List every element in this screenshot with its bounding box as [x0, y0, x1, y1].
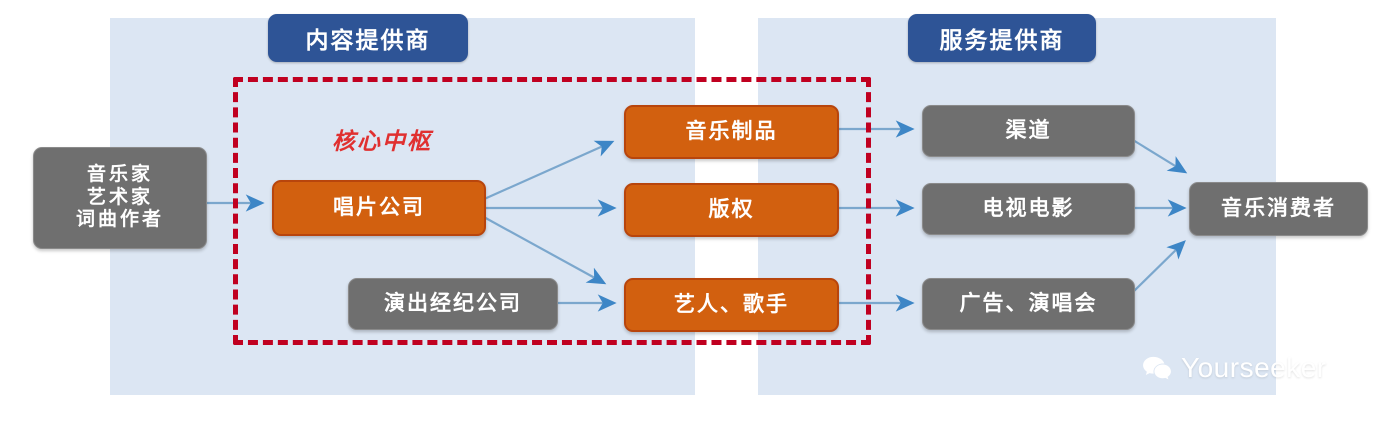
watermark-text: Yourseeker — [1181, 352, 1327, 384]
node-copyright[interactable]: 版权 — [624, 183, 839, 237]
node-creators[interactable]: 音乐家 艺术家 词曲作者 — [33, 147, 207, 249]
watermark: Yourseeker — [1142, 352, 1327, 384]
node-record-company[interactable]: 唱片公司 — [272, 180, 486, 236]
header-content-provider: 内容提供商 — [268, 14, 468, 62]
core-hub-label: 核心中枢 — [332, 122, 432, 156]
node-channel[interactable]: 渠道 — [922, 105, 1135, 157]
node-tv-film[interactable]: 电视电影 — [922, 183, 1135, 235]
node-artists-singers[interactable]: 艺人、歌手 — [624, 278, 839, 332]
node-music-consumers[interactable]: 音乐消费者 — [1189, 182, 1368, 236]
creators-line-1: 音乐家 — [87, 164, 153, 186]
creators-line-3: 词曲作者 — [76, 209, 164, 231]
node-music-products[interactable]: 音乐制品 — [624, 105, 839, 159]
diagram-canvas: 内容提供商 服务提供商 核心中枢 音乐家 艺术家 词曲作者 唱片公司 演出经纪公… — [0, 0, 1397, 427]
node-talent-agency[interactable]: 演出经纪公司 — [348, 278, 558, 330]
edge-channel-to-consumers — [1133, 140, 1185, 172]
wechat-icon — [1142, 355, 1172, 381]
header-service-provider: 服务提供商 — [908, 14, 1096, 62]
edge-ads-to-consumers — [1133, 242, 1184, 292]
node-ads-concerts[interactable]: 广告、演唱会 — [922, 278, 1135, 330]
creators-line-2: 艺术家 — [87, 187, 153, 209]
